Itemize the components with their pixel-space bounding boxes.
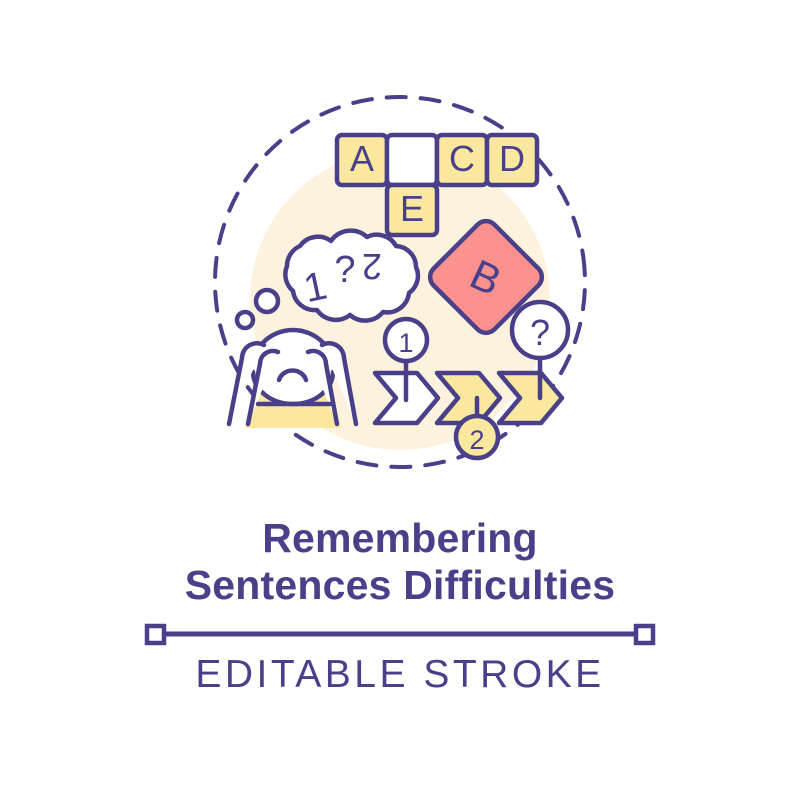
thought-bubble-char-question: ?	[334, 249, 355, 291]
page-title-line-2: Sentences Difficulties	[0, 560, 800, 610]
concept-icon-card: A C D E B	[0, 0, 800, 800]
thought-bubble: 1 ? 2	[285, 231, 418, 321]
editable-stroke-divider	[147, 626, 653, 643]
crossword-letter-e: E	[400, 188, 424, 229]
thought-bubble-dot-large	[256, 290, 278, 312]
crossword-cell-a: A	[337, 135, 387, 185]
marker-pin-1-label: 1	[398, 328, 413, 358]
marker-pin-2-label: 2	[469, 425, 484, 455]
crossword-letter-d: D	[499, 138, 525, 179]
thought-bubble-char-2: 2	[362, 246, 382, 287]
divider-handle-left[interactable]	[147, 626, 164, 643]
marker-pin-question-label: ?	[530, 312, 550, 353]
crossword-cell-d: D	[487, 135, 537, 185]
frustrated-person	[229, 330, 356, 428]
crossword-letter-c: C	[449, 138, 475, 179]
crossword-cell-e: E	[387, 185, 437, 235]
editable-stroke-label: EDITABLE STROKE	[0, 653, 800, 697]
crossword-cell-blank	[387, 135, 437, 185]
crossword-letter-a: A	[350, 138, 374, 179]
thought-bubble-dot-small	[237, 312, 253, 328]
crossword-cell-c: C	[437, 135, 487, 185]
divider-handle-right[interactable]	[636, 626, 653, 643]
page-title-line-1: Remembering	[0, 513, 800, 563]
